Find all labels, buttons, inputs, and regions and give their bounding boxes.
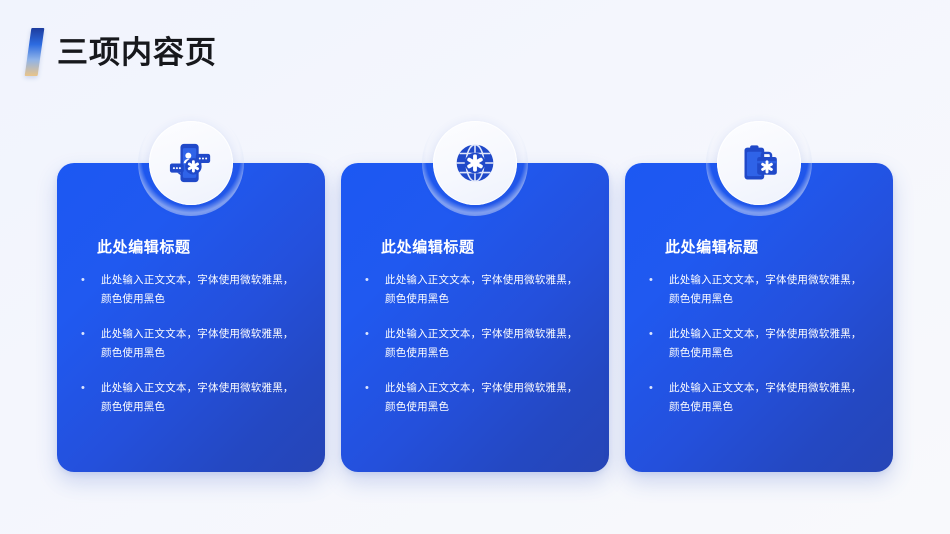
bullet-text: 此处输入正文文本，字体使用微软雅黑，颜色使用黑色 (95, 271, 303, 309)
list-item: • 此处输入正文文本，字体使用微软雅黑，颜色使用黑色 (79, 271, 303, 309)
bullet-marker-icon: • (79, 271, 95, 290)
list-item: • 此处输入正文文本，字体使用微软雅黑，颜色使用黑色 (363, 379, 587, 417)
card-wrapper-2: 此处编辑标题 • 此处输入正文文本，字体使用微软雅黑，颜色使用黑色 • 此处输入… (341, 163, 609, 472)
card-title-1: 此处编辑标题 (97, 239, 303, 257)
list-item: • 此处输入正文文本，字体使用微软雅黑，颜色使用黑色 (647, 379, 871, 417)
bullet-text: 此处输入正文文本，字体使用微软雅黑，颜色使用黑色 (379, 325, 587, 363)
list-item: • 此处输入正文文本，字体使用微软雅黑，颜色使用黑色 (79, 379, 303, 417)
gradient-accent-bar-icon (25, 28, 45, 76)
global-health-globe-icon (433, 121, 517, 205)
bullet-marker-icon: • (363, 271, 379, 290)
card-bullet-list-2: • 此处输入正文文本，字体使用微软雅黑，颜色使用黑色 • 此处输入正文文本，字体… (363, 271, 587, 417)
card-wrapper-1: 此处编辑标题 • 此处输入正文文本，字体使用微软雅黑，颜色使用黑色 • 此处输入… (57, 163, 325, 472)
list-item: • 此处输入正文文本，字体使用微软雅黑，颜色使用黑色 (79, 325, 303, 363)
card-icon-badge-1 (138, 110, 244, 216)
bullet-text: 此处输入正文文本，字体使用微软雅黑，颜色使用黑色 (663, 325, 871, 363)
bullet-text: 此处输入正文文本，字体使用微软雅黑，颜色使用黑色 (663, 271, 871, 309)
bullet-marker-icon: • (79, 325, 95, 344)
slide-canvas: 三项内容页 此处编辑标题 • 此处输入正文文本，字体使用微软雅黑，颜色使用黑色 … (0, 0, 950, 534)
card-icon-badge-2 (422, 110, 528, 216)
bullet-marker-icon: • (79, 379, 95, 398)
bullet-text: 此处输入正文文本，字体使用微软雅黑，颜色使用黑色 (95, 379, 303, 417)
list-item: • 此处输入正文文本，字体使用微软雅黑，颜色使用黑色 (363, 325, 587, 363)
bullet-marker-icon: • (363, 325, 379, 344)
bullet-text: 此处输入正文文本，字体使用微软雅黑，颜色使用黑色 (663, 379, 871, 417)
bullet-marker-icon: • (647, 325, 663, 344)
card-title-3: 此处编辑标题 (665, 239, 871, 257)
content-cards-row: 此处编辑标题 • 此处输入正文文本，字体使用微软雅黑，颜色使用黑色 • 此处输入… (57, 163, 893, 472)
bullet-text: 此处输入正文文本，字体使用微软雅黑，颜色使用黑色 (379, 379, 587, 417)
page-title-row: 三项内容页 (28, 26, 217, 78)
bullet-text: 此处输入正文文本，字体使用微软雅黑，颜色使用黑色 (379, 271, 587, 309)
card-wrapper-3: 此处编辑标题 • 此处输入正文文本，字体使用微软雅黑，颜色使用黑色 • 此处输入… (625, 163, 893, 472)
list-item: • 此处输入正文文本，字体使用微软雅黑，颜色使用黑色 (647, 271, 871, 309)
bullet-marker-icon: • (647, 379, 663, 398)
card-bullet-list-1: • 此处输入正文文本，字体使用微软雅黑，颜色使用黑色 • 此处输入正文文本，字体… (79, 271, 303, 417)
list-item: • 此处输入正文文本，字体使用微软雅黑，颜色使用黑色 (363, 271, 587, 309)
bullet-marker-icon: • (363, 379, 379, 398)
bullet-text: 此处输入正文文本，字体使用微软雅黑，颜色使用黑色 (95, 325, 303, 363)
telemedicine-phone-icon (149, 121, 233, 205)
page-title: 三项内容页 (57, 37, 217, 68)
bullet-marker-icon: • (647, 271, 663, 290)
medical-kit-clipboard-icon (717, 121, 801, 205)
list-item: • 此处输入正文文本，字体使用微软雅黑，颜色使用黑色 (647, 325, 871, 363)
card-title-2: 此处编辑标题 (381, 239, 587, 257)
card-bullet-list-3: • 此处输入正文文本，字体使用微软雅黑，颜色使用黑色 • 此处输入正文文本，字体… (647, 271, 871, 417)
card-icon-badge-3 (706, 110, 812, 216)
